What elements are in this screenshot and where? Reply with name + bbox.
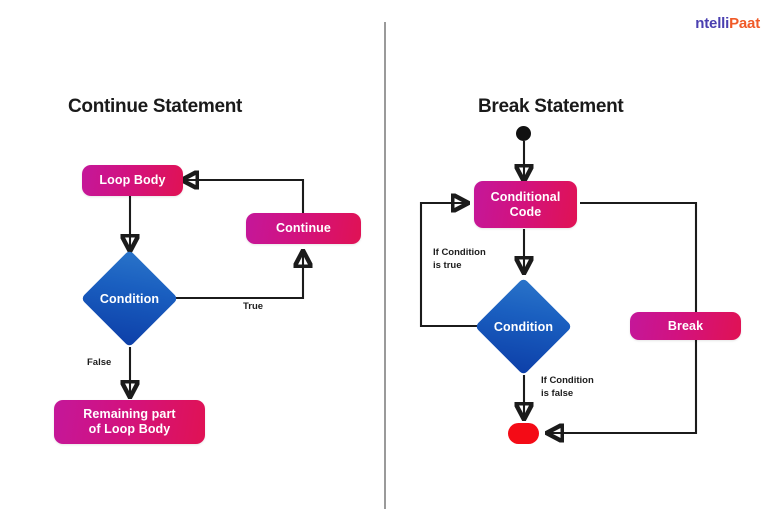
diagram-canvas: ntelliPaat Continue Statement Break Stat… bbox=[0, 0, 768, 530]
edge-label-if-condition-false: If Condition is false bbox=[541, 375, 594, 401]
panel-divider bbox=[384, 22, 386, 509]
node-loop-body-label: Loop Body bbox=[99, 173, 165, 188]
node-break[interactable]: Break bbox=[630, 312, 741, 340]
end-node bbox=[508, 423, 539, 444]
node-condition-left-label: Condition bbox=[95, 264, 164, 333]
logo-wordmark: ntelliPaat bbox=[695, 16, 760, 31]
node-remaining-loop-body-label: Remaining part of Loop Body bbox=[83, 407, 175, 437]
start-node bbox=[516, 126, 531, 141]
node-continue-label: Continue bbox=[276, 221, 331, 236]
logo-text-ntelli: ntelli bbox=[695, 15, 729, 32]
node-conditional-code-label: Conditional Code bbox=[491, 190, 561, 220]
logo-text-paat: Paat bbox=[729, 15, 760, 32]
node-condition-left[interactable]: Condition bbox=[95, 264, 164, 333]
node-continue[interactable]: Continue bbox=[246, 213, 361, 244]
edge-label-true: True bbox=[243, 301, 263, 314]
edge-label-if-condition-true: If Condition is true bbox=[433, 247, 486, 273]
node-remaining-loop-body[interactable]: Remaining part of Loop Body bbox=[54, 400, 205, 444]
node-condition-right-label: Condition bbox=[489, 292, 558, 361]
edge-label-false: False bbox=[87, 357, 111, 370]
right-panel-title: Break Statement bbox=[478, 96, 623, 118]
intellipaat-logo: ntelliPaat bbox=[664, 8, 760, 38]
node-condition-right[interactable]: Condition bbox=[489, 292, 558, 361]
node-conditional-code[interactable]: Conditional Code bbox=[474, 181, 577, 228]
left-panel-title: Continue Statement bbox=[68, 96, 242, 118]
node-break-label: Break bbox=[668, 319, 703, 334]
node-loop-body[interactable]: Loop Body bbox=[82, 165, 183, 196]
